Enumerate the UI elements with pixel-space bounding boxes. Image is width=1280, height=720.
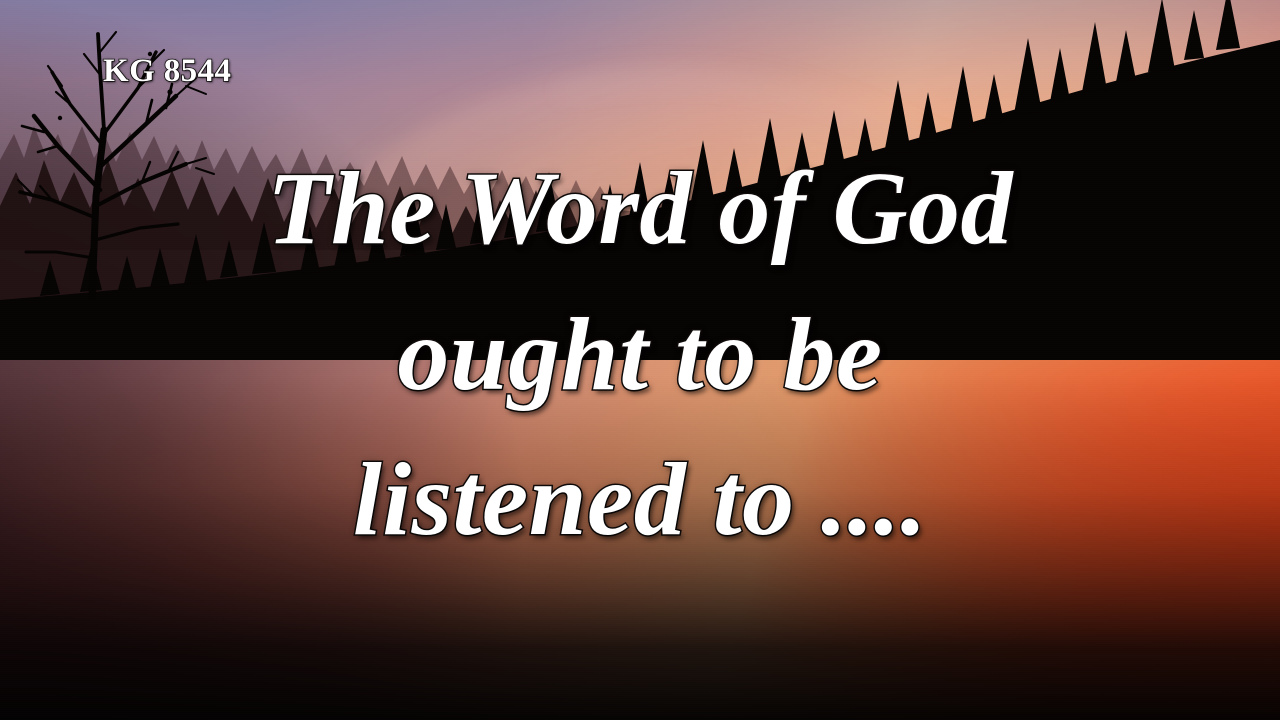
quote-image-card: KG 8544 The Word of God ought to be list… (0, 0, 1280, 720)
quote-text-block: The Word of God ought to be listened to … (0, 136, 1280, 573)
quote-line-1: The Word of God (36, 136, 1244, 282)
quote-line-2: ought to be (36, 282, 1244, 428)
quote-line-3: listened to .... (36, 427, 1244, 573)
corner-image-id: KG 8544 (103, 55, 231, 88)
